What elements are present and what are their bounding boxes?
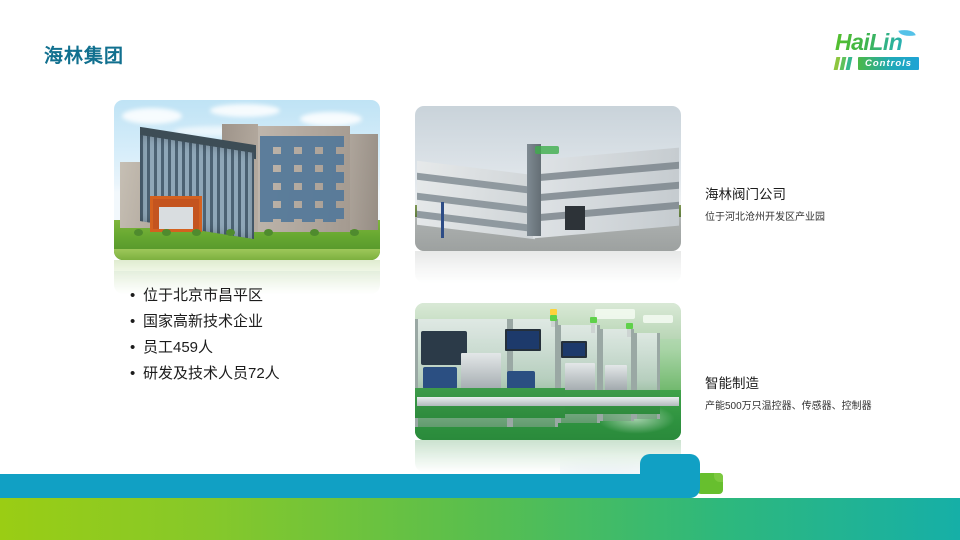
status-tower-light (551, 309, 555, 327)
three-bars-icon (835, 57, 851, 70)
cloud-shape (122, 108, 182, 124)
shrub-shape (264, 229, 273, 236)
shrub-shape (350, 229, 359, 236)
hailin-logo: HaiLin Controls (825, 30, 943, 76)
valve-company-subtitle: 位于河北沧州开发区产业园 (705, 211, 945, 225)
list-item: 国家高新技术企业 (130, 309, 430, 335)
teal-band-decoration (0, 474, 600, 498)
status-tower-light (591, 317, 595, 333)
entrance-door (565, 206, 585, 230)
right-tower-windows (260, 136, 344, 222)
factory-building-scene (415, 106, 681, 251)
production-line-scene (415, 303, 681, 440)
manufacturing-title: 智能制造 (705, 374, 940, 394)
teal-tab-decoration (640, 454, 700, 478)
slide-canvas: 海林集团 HaiLin Controls (0, 0, 960, 540)
machine-part (461, 353, 501, 393)
page-title: 海林集团 (44, 41, 124, 68)
logo-wordmark: HaiLin (835, 30, 943, 54)
factory-photo-reflection (415, 251, 681, 283)
shrub-shape (192, 229, 201, 236)
orange-entrance (150, 196, 202, 232)
machine-part (565, 363, 595, 393)
manufacturing-subtitle: 产能500万只温控器、传感器、控制器 (705, 400, 940, 414)
cloud-shape (210, 104, 280, 117)
shrub-shape (226, 229, 235, 236)
green-square-decoration (697, 473, 723, 494)
valve-company-title: 海林阀门公司 (705, 185, 945, 205)
cloud-shape (300, 112, 362, 126)
bottom-gradient-bar (0, 498, 960, 540)
monitor-screen (505, 329, 541, 351)
monitor-screen (561, 341, 587, 358)
bullet-list: 位于北京市昌平区 国家高新技术企业 员工459人 研发及技术人员72人 (130, 283, 430, 387)
company-sign (535, 146, 559, 154)
factory-building-photo (415, 106, 681, 251)
office-building-scene (114, 100, 380, 260)
status-tower-light (627, 323, 631, 337)
building-corner-shape (527, 144, 541, 236)
ceiling-lamp (643, 315, 673, 323)
light-pole (441, 202, 444, 238)
shrub-shape (310, 229, 319, 236)
ceiling-lamp (595, 309, 635, 319)
shrub-shape (162, 229, 171, 236)
valve-company-caption: 海林阀门公司 位于河北沧州开发区产业园 (705, 185, 945, 225)
list-item: 位于北京市昌平区 (130, 283, 430, 309)
shrub-shape (134, 229, 143, 236)
list-item: 研发及技术人员72人 (130, 361, 430, 387)
office-building-photo (114, 100, 380, 260)
manufacturing-caption: 智能制造 产能500万只温控器、传感器、控制器 (705, 374, 940, 414)
machine-part (605, 365, 627, 391)
lawn-foreground-shape (114, 249, 380, 260)
list-item: 员工459人 (130, 335, 430, 361)
logo-tagline: Controls (858, 57, 919, 70)
conveyor-rail (417, 397, 679, 406)
headquarters-bullet-list: 位于北京市昌平区 国家高新技术企业 员工459人 研发及技术人员72人 (130, 283, 430, 387)
production-line-photo (415, 303, 681, 440)
